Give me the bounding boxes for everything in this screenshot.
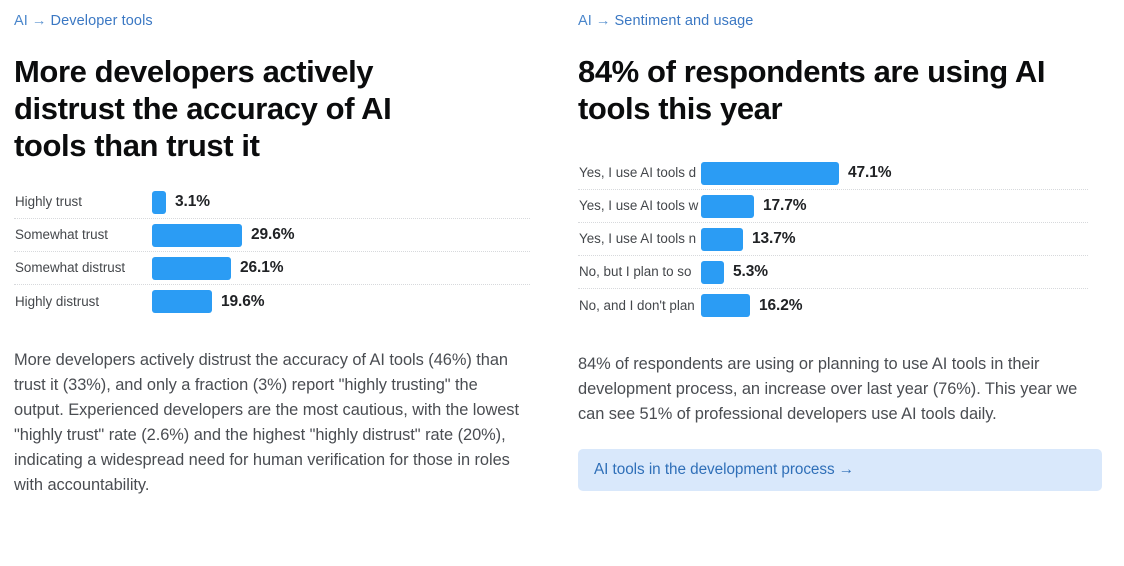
bar-track: 3.1% xyxy=(152,191,530,214)
breadcrumb-arrow-icon: → xyxy=(28,13,51,29)
bar-value-label: 17.7% xyxy=(763,197,806,215)
bar-category-label: No, but I plan to so xyxy=(578,263,701,281)
bar-value-label: 5.3% xyxy=(733,263,768,281)
bar-fill[interactable] xyxy=(152,290,212,313)
table-row: No, but I plan to so 5.3% xyxy=(578,256,1088,289)
bar-value-label: 3.1% xyxy=(175,193,210,211)
bar-fill[interactable] xyxy=(701,294,750,317)
bar-track: 19.6% xyxy=(152,290,530,313)
breadcrumb-root-link[interactable]: AI xyxy=(578,13,592,29)
bar-fill[interactable] xyxy=(701,261,724,284)
bar-value-label: 13.7% xyxy=(752,230,795,248)
page-title: 84% of respondents are using AI tools th… xyxy=(578,31,1058,127)
bar-value-label: 29.6% xyxy=(251,226,294,244)
bar-fill[interactable] xyxy=(701,162,839,185)
summary-paragraph: 84% of respondents are using or planning… xyxy=(578,322,1078,427)
cta-label: AI tools in the development process → xyxy=(594,461,854,479)
bar-track: 16.2% xyxy=(701,294,1088,317)
bar-track: 29.6% xyxy=(152,224,530,247)
bar-track: 47.1% xyxy=(701,162,1088,185)
bar-track: 5.3% xyxy=(701,261,1088,284)
bar-category-label: Yes, I use AI tools w xyxy=(578,197,701,215)
left-stat-card: AI→Developer tools More developers activ… xyxy=(0,0,562,566)
table-row: Yes, I use AI tools n 13.7% xyxy=(578,223,1088,256)
bar-track: 13.7% xyxy=(701,228,1088,251)
bar-track: 26.1% xyxy=(152,257,530,280)
bar-value-label: 26.1% xyxy=(240,259,283,277)
table-row: No, and I don't plan 16.2% xyxy=(578,289,1088,322)
table-row: Somewhat distrust 26.1% xyxy=(14,252,530,285)
bar-fill[interactable] xyxy=(152,257,231,280)
bar-category-label: Somewhat trust xyxy=(14,226,152,244)
summary-paragraph: More developers actively distrust the ac… xyxy=(14,318,519,498)
table-row: Somewhat trust 29.6% xyxy=(14,219,530,252)
bar-track: 17.7% xyxy=(701,195,1088,218)
bar-category-label: Yes, I use AI tools n xyxy=(578,230,701,248)
bar-fill[interactable] xyxy=(152,191,166,214)
bar-fill[interactable] xyxy=(701,195,754,218)
bar-value-label: 19.6% xyxy=(221,293,264,311)
table-row: Yes, I use AI tools d 47.1% xyxy=(578,157,1088,190)
bar-fill[interactable] xyxy=(152,224,242,247)
bar-category-label: Yes, I use AI tools d xyxy=(578,164,701,182)
right-stat-card: AI→Sentiment and usage 84% of respondent… xyxy=(562,0,1124,566)
bar-value-label: 47.1% xyxy=(848,164,891,182)
bar-category-label: Highly trust xyxy=(14,193,152,211)
bar-category-label: No, and I don't plan xyxy=(578,297,701,315)
breadcrumb-current-link[interactable]: Developer tools xyxy=(51,13,153,29)
table-row: Highly distrust 19.6% xyxy=(14,285,530,318)
breadcrumb: AI→Developer tools xyxy=(14,0,530,31)
breadcrumb-arrow-icon: → xyxy=(592,13,615,29)
bar-value-label: 16.2% xyxy=(759,297,802,315)
table-row: Yes, I use AI tools w 17.7% xyxy=(578,190,1088,223)
table-row: Highly trust 3.1% xyxy=(14,186,530,219)
bar-category-label: Highly distrust xyxy=(14,293,152,311)
page-title: More developers actively distrust the ac… xyxy=(14,31,454,164)
breadcrumb-current-link[interactable]: Sentiment and usage xyxy=(615,13,754,29)
breadcrumb-root-link[interactable]: AI xyxy=(14,13,28,29)
bar-category-label: Somewhat distrust xyxy=(14,259,152,277)
breadcrumb: AI→Sentiment and usage xyxy=(578,0,1088,31)
usage-bar-chart: Yes, I use AI tools d 47.1% Yes, I use A… xyxy=(578,157,1088,322)
stats-panel: AI→Developer tools More developers activ… xyxy=(0,0,1124,566)
bar-fill[interactable] xyxy=(701,228,743,251)
trust-bar-chart: Highly trust 3.1% Somewhat trust 29.6% S… xyxy=(14,186,530,318)
ai-tools-process-link-button[interactable]: AI tools in the development process → xyxy=(578,449,1102,491)
